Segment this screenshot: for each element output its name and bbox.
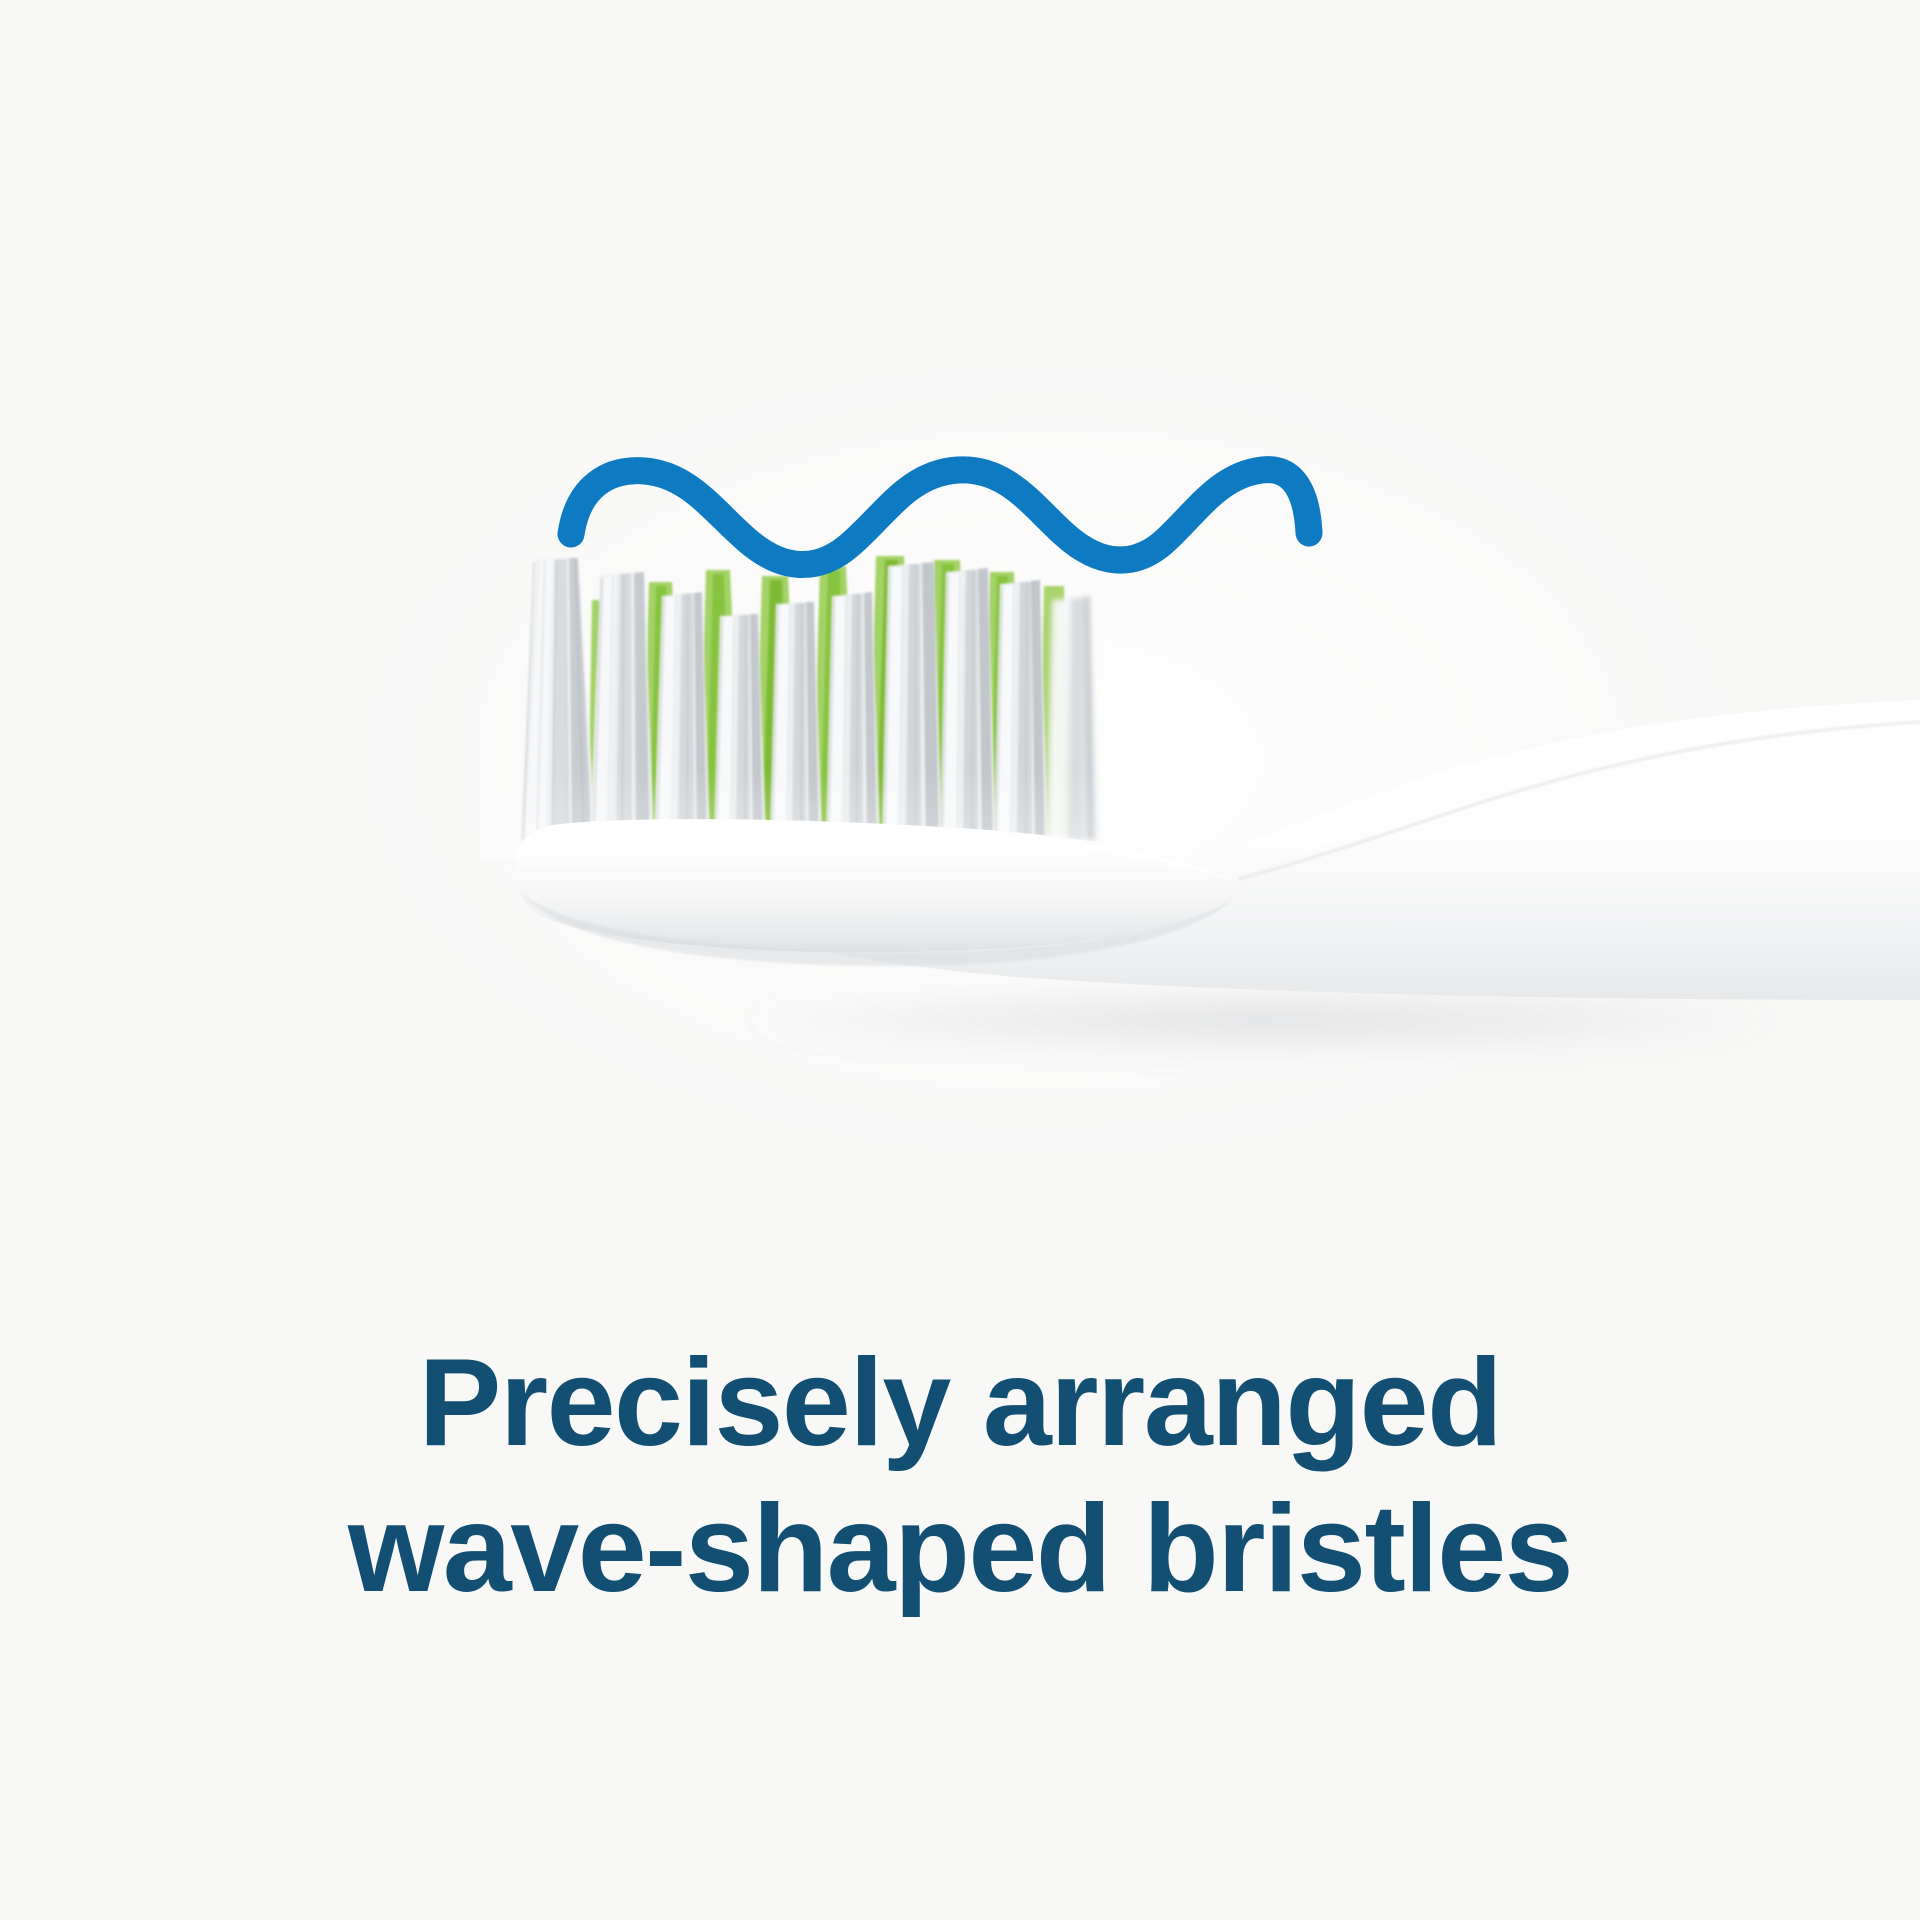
wave-icon [571, 470, 1309, 565]
product-tile: Precisely arranged wave-shaped bristles [0, 0, 1920, 1920]
caption-line-2: wave-shaped bristles [0, 1476, 1920, 1622]
caption-block: Precisely arranged wave-shaped bristles [0, 1330, 1920, 1623]
wave-line-graphic [0, 0, 1920, 1920]
caption-line-1: Precisely arranged [0, 1330, 1920, 1476]
